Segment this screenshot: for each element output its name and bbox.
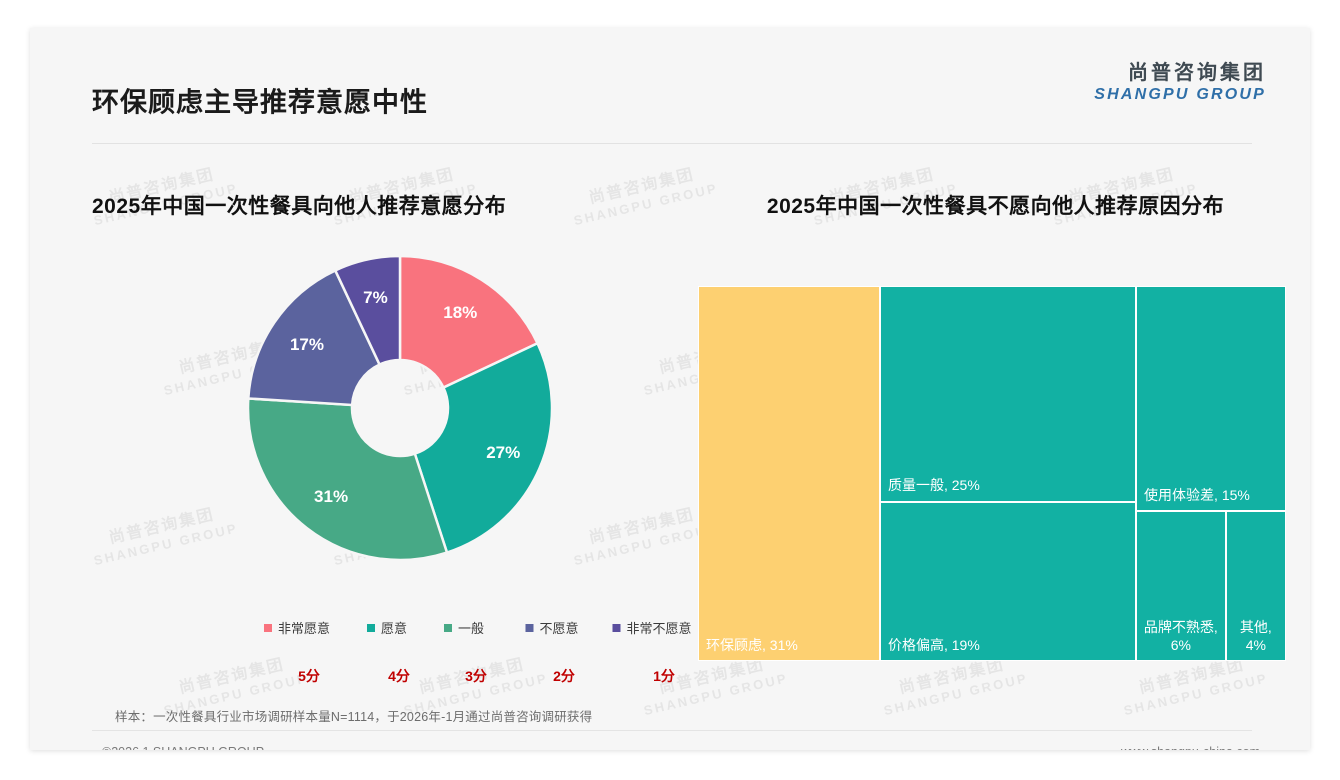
logo-english-text: SHANGPU GROUP <box>1094 85 1266 104</box>
donut-score-row: 5分4分3分2分1分 <box>92 666 682 690</box>
legend-swatch <box>444 624 452 632</box>
legend-label: 非常不愿意 <box>626 618 691 637</box>
page-title: 环保顾虑主导推荐意愿中性 <box>92 81 428 120</box>
donut-slice-label: 31% <box>314 487 348 507</box>
brand-logo: 尚普咨询集团 SHANGPU GROUP <box>1094 62 1266 104</box>
donut-slice[interactable] <box>248 398 447 560</box>
score-label: 3分 <box>465 666 487 686</box>
treemap-cell[interactable]: 其他, 4% <box>1226 511 1286 661</box>
score-label: 5分 <box>298 666 320 686</box>
legend-label: 一般 <box>458 618 484 637</box>
treemap-cell-label: 使用体验差, 15% <box>1144 487 1250 505</box>
slide-header: 环保顾虑主导推荐意愿中性 尚普咨询集团 SHANGPU GROUP <box>30 28 1310 120</box>
treemap-cell-label: 品牌不熟悉, 6% <box>1141 619 1221 654</box>
score-label: 2分 <box>553 666 575 686</box>
treemap-cell[interactable]: 质量一般, 25% <box>880 286 1136 502</box>
treemap-cell-label: 其他, 4% <box>1231 619 1281 654</box>
treemap-cell[interactable]: 环保顾虑, 31% <box>698 286 880 661</box>
sample-note: 样本：一次性餐具行业市场调研样本量N=1114，于2026年-1月通过尚普咨询调… <box>115 706 592 725</box>
treemap-cell-label: 价格偏高, 19% <box>888 637 980 655</box>
treemap-cell[interactable]: 价格偏高, 19% <box>880 502 1136 661</box>
donut-chart-title: 2025年中国一次性餐具向他人推荐意愿分布 <box>92 190 682 220</box>
treemap-chart-title: 2025年中国一次性餐具不愿向他人推荐原因分布 <box>698 190 1293 220</box>
donut-chart-area: 18%27%31%17%7% <box>92 260 682 590</box>
legend-item[interactable]: 非常不愿意 <box>612 618 691 637</box>
legend-label: 非常愿意 <box>278 618 330 637</box>
legend-item[interactable]: 一般 <box>444 618 484 637</box>
footer-copyright: ©2026.1 SHANGPU GROUP <box>102 745 264 750</box>
slide: 尚普咨询集团SHANGPU GROUP尚普咨询集团SHANGPU GROUP尚普… <box>0 0 1340 780</box>
donut-legend: 非常愿意愿意一般不愿意非常不愿意 <box>92 618 682 644</box>
legend-item[interactable]: 非常愿意 <box>264 618 330 637</box>
legend-swatch <box>264 624 272 632</box>
footer-website: www.shangpu-china.com <box>1121 745 1260 750</box>
treemap-chart-area: 环保顾虑, 31%质量一般, 25%价格偏高, 19%使用体验差, 15%品牌不… <box>698 286 1286 661</box>
treemap-cell[interactable]: 品牌不熟悉, 6% <box>1136 511 1226 661</box>
treemap-chart-panel: 2025年中国一次性餐具不愿向他人推荐原因分布 环保顾虑, 31%质量一般, 2… <box>698 190 1293 710</box>
treemap-cell[interactable]: 使用体验差, 15% <box>1136 286 1286 511</box>
legend-swatch <box>525 624 533 632</box>
legend-label: 愿意 <box>381 618 407 637</box>
legend-item[interactable]: 愿意 <box>367 618 407 637</box>
donut-chart-svg <box>240 248 560 568</box>
footer-divider <box>92 730 1252 731</box>
legend-swatch <box>367 624 375 632</box>
score-label: 1分 <box>653 666 675 686</box>
legend-swatch <box>612 624 620 632</box>
donut-slice-label: 18% <box>443 303 477 323</box>
donut-slice-label: 7% <box>363 288 388 308</box>
header-divider <box>92 143 1252 144</box>
donut-chart-panel: 2025年中国一次性餐具向他人推荐意愿分布 18%27%31%17%7% 非常愿… <box>92 190 682 710</box>
legend-item[interactable]: 不愿意 <box>525 618 578 637</box>
slide-card: 尚普咨询集团SHANGPU GROUP尚普咨询集团SHANGPU GROUP尚普… <box>30 28 1310 750</box>
donut-slice-label: 17% <box>290 335 324 355</box>
logo-chinese-text: 尚普咨询集团 <box>1094 62 1266 85</box>
donut-slice-label: 27% <box>486 443 520 463</box>
treemap-cell-label: 质量一般, 25% <box>888 477 980 495</box>
score-label: 4分 <box>388 666 410 686</box>
legend-label: 不愿意 <box>539 618 578 637</box>
treemap-cell-label: 环保顾虑, 31% <box>706 637 798 655</box>
